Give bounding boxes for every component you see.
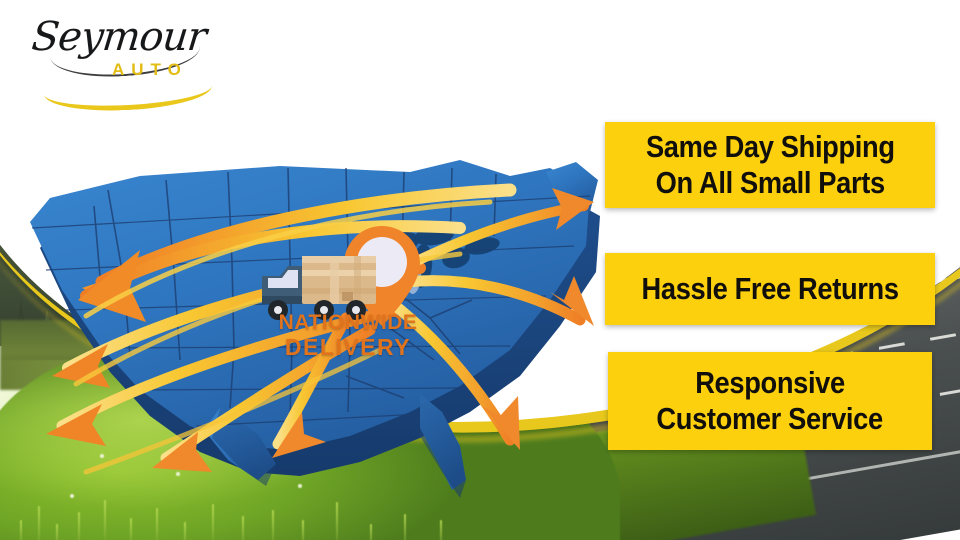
arrow-head <box>46 404 106 446</box>
nationwide-delivery-badge: NATIONWIDE DELIVERY <box>258 222 438 368</box>
promo-line: On All Small Parts <box>655 165 884 201</box>
delivery-caption-line1: NATIONWIDE <box>253 310 443 335</box>
logo-wordmark: Seymour <box>30 14 208 60</box>
promo-line: Responsive <box>695 365 845 401</box>
delivery-caption-line2: DELIVERY <box>253 335 443 360</box>
promo-line: Same Day Shipping <box>646 129 895 165</box>
delivery-caption: NATIONWIDE DELIVERY <box>253 310 443 360</box>
promotional-banner: Seymour AUTO <box>0 0 960 540</box>
brand-logo[interactable]: Seymour AUTO <box>26 12 216 94</box>
logo-subtext: AUTO <box>112 60 188 80</box>
promo-banner-hassle-free-returns[interactable]: Hassle Free Returns <box>605 253 935 325</box>
promo-banner-responsive-customer-service[interactable]: Responsive Customer Service <box>608 352 932 450</box>
promo-line: Hassle Free Returns <box>641 271 898 307</box>
promo-line: Customer Service <box>657 401 883 437</box>
promo-banner-same-day-shipping[interactable]: Same Day Shipping On All Small Parts <box>605 122 935 208</box>
